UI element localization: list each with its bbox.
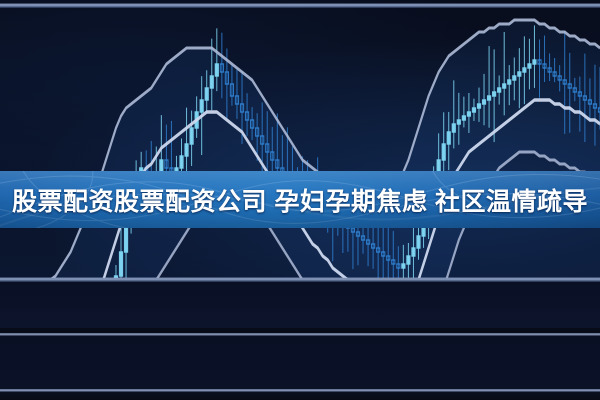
- title-banner: 股票配资股票配资公司 孕妇孕期焦虑 社区温情疏导: [0, 171, 600, 228]
- oscillator-chart-svg: [0, 336, 600, 392]
- stock-chart-banner-image: 股票 股票配资股票配资公司 孕妇孕期焦虑 社区温情疏导: [0, 0, 600, 400]
- bottom-filler: [0, 392, 600, 400]
- volume-chart-panel: [0, 281, 600, 328]
- price-chart-svg: [0, 0, 600, 278]
- volume-chart-svg: [0, 281, 600, 328]
- price-chart-panel: [0, 0, 600, 278]
- banner-title-text: 股票配资股票配资公司 孕妇孕期焦虑 社区温情疏导: [0, 171, 600, 228]
- oscillator-chart-panel: [0, 336, 600, 392]
